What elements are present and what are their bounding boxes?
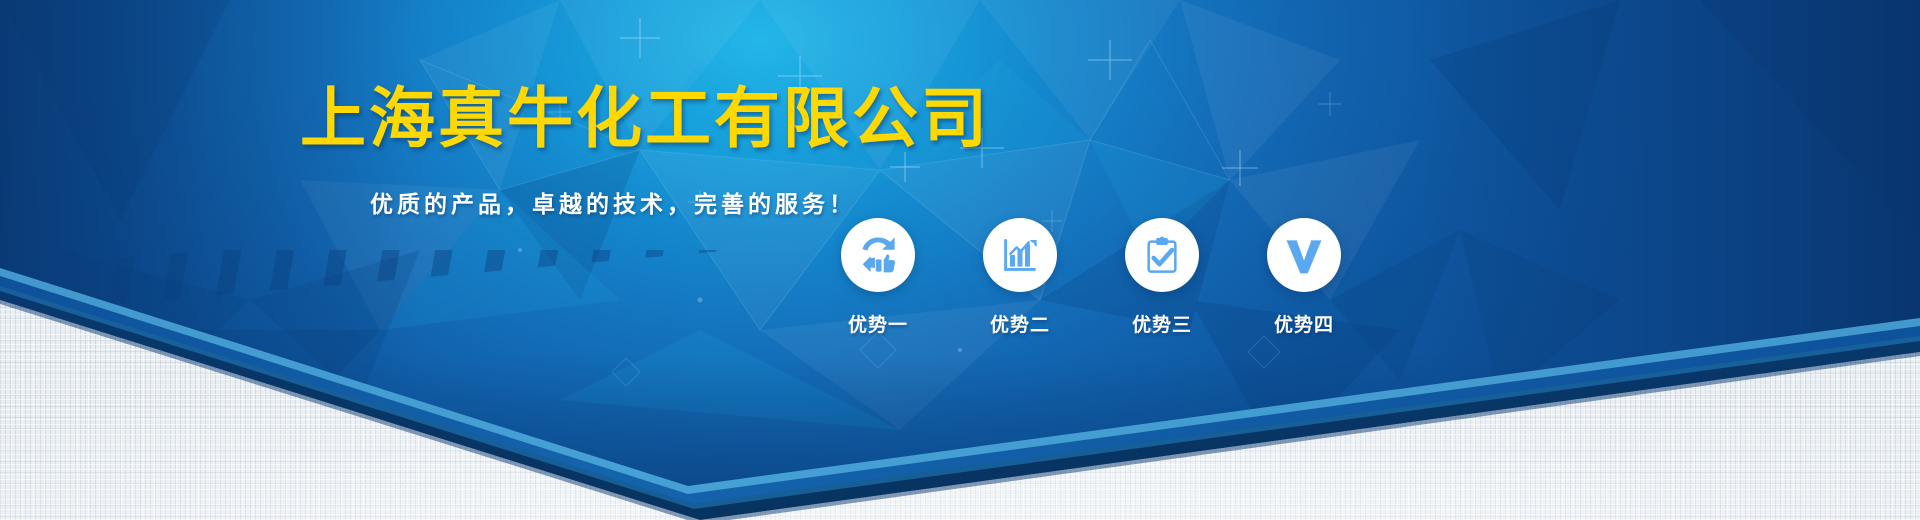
feature-item-1[interactable]: 优势一 (824, 218, 932, 337)
feature-label-2: 优势二 (990, 310, 1050, 337)
clipboard-check-icon (1142, 235, 1182, 275)
v-check-icon (1282, 233, 1326, 277)
feature-icon-bubble-3 (1125, 218, 1199, 292)
feature-item-4[interactable]: 优势四 (1250, 218, 1358, 337)
bar-chart-growth-icon (1000, 235, 1040, 275)
feature-list: 优势一 (824, 218, 1358, 337)
feature-item-3[interactable]: 优势三 (1108, 218, 1216, 337)
feature-label-3: 优势三 (1132, 310, 1192, 337)
feature-label-1: 优势一 (848, 310, 908, 337)
banner-content: 上海真牛化工有限公司 优质的产品，卓越的技术，完善的服务！ 优势一 (0, 0, 1920, 520)
company-hero-banner: 上海真牛化工有限公司 优质的产品，卓越的技术，完善的服务！ 优势一 (0, 0, 1920, 520)
feature-item-2[interactable]: 优势二 (966, 218, 1074, 337)
feature-icon-bubble-1 (841, 218, 915, 292)
feature-icon-bubble-2 (983, 218, 1057, 292)
page-title: 上海真牛化工有限公司 (300, 86, 990, 152)
page-subtitle: 优质的产品，卓越的技术，完善的服务！ (370, 194, 856, 217)
feature-label-4: 优势四 (1274, 310, 1334, 337)
feature-icon-bubble-4 (1267, 218, 1341, 292)
refresh-thumbsup-icon (857, 234, 899, 276)
